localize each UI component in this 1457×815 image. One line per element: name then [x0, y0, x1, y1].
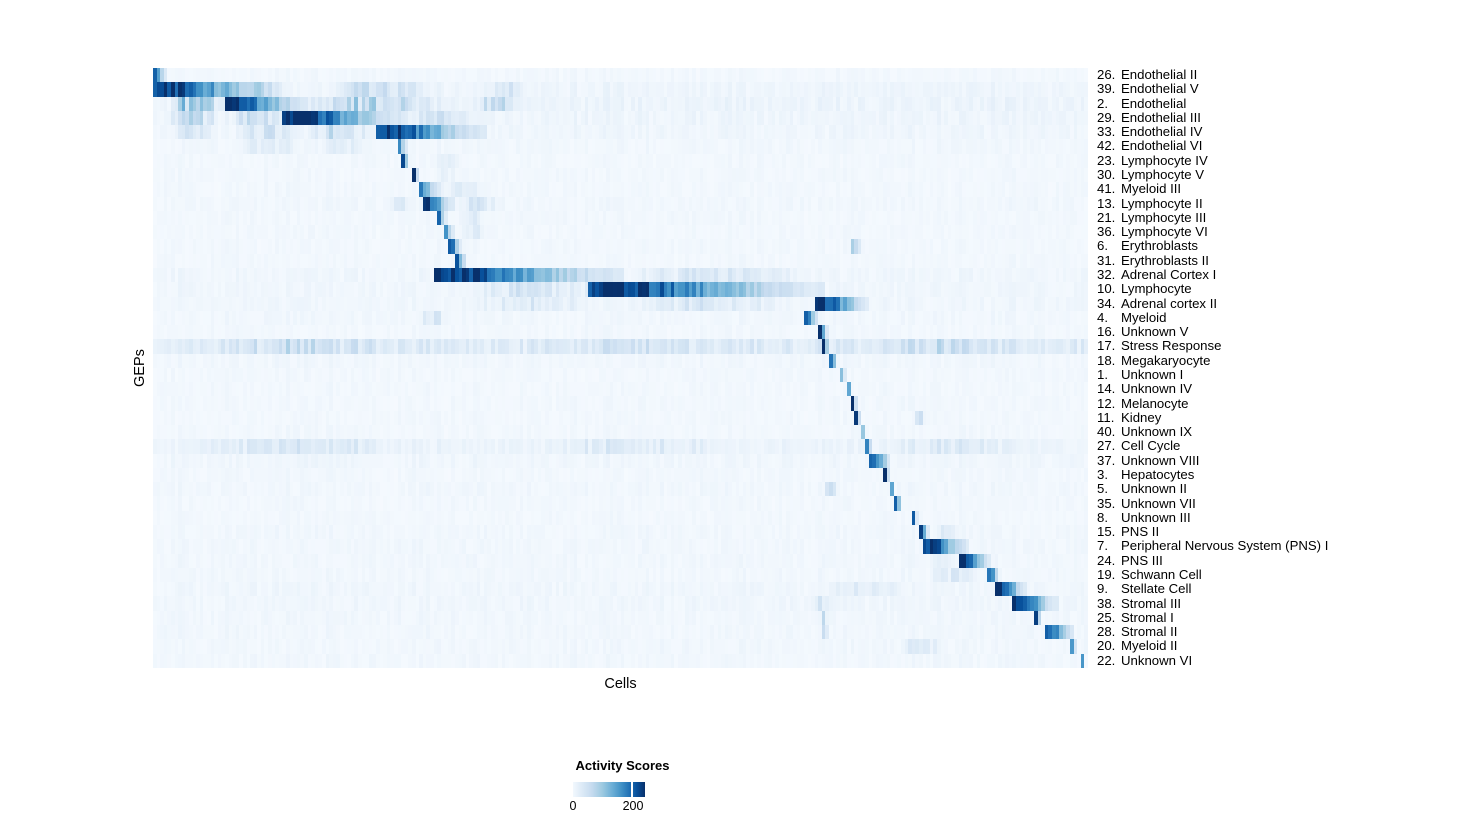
heatmap-row — [153, 596, 1088, 610]
heatmap-row — [153, 439, 1088, 453]
gep-row-name: Stromal I — [1121, 611, 1174, 625]
gep-row-number: 37. — [1097, 454, 1121, 468]
gep-row-label: 28.Stromal II — [1097, 625, 1177, 639]
gep-row-name: Stromal III — [1121, 597, 1181, 611]
gep-row-number: 10. — [1097, 282, 1121, 296]
heatmap-row — [153, 354, 1088, 368]
colorbar-tick-label-high: 200 — [623, 799, 644, 813]
heatmap-row — [153, 297, 1088, 311]
heatmap-row — [153, 368, 1088, 382]
gep-row-number: 35. — [1097, 497, 1121, 511]
gep-row-label: 14.Unknown IV — [1097, 382, 1192, 396]
gep-row-name: Endothelial III — [1121, 111, 1201, 125]
gep-row-name: Unknown VII — [1121, 497, 1196, 511]
gep-row-number: 38. — [1097, 597, 1121, 611]
gep-row-label: 39.Endothelial V — [1097, 82, 1199, 96]
gep-row-name: Lymphocyte VI — [1121, 225, 1208, 239]
gep-row-number: 25. — [1097, 611, 1121, 625]
gep-row-label: 38.Stromal III — [1097, 597, 1181, 611]
gep-row-name: Erythroblasts — [1121, 239, 1198, 253]
heatmap-row — [153, 454, 1088, 468]
gep-row-name: Hepatocytes — [1121, 468, 1194, 482]
colorbar-gradient — [571, 782, 645, 797]
gep-row-label: 35.Unknown VII — [1097, 497, 1196, 511]
gep-row-label: 8.Unknown III — [1097, 511, 1191, 525]
heatmap-row — [153, 311, 1088, 325]
gep-row-number: 40. — [1097, 425, 1121, 439]
gep-row-number: 16. — [1097, 325, 1121, 339]
gep-row-number: 32. — [1097, 268, 1121, 282]
gep-row-number: 34. — [1097, 297, 1121, 311]
gep-row-label: 25.Stromal I — [1097, 611, 1174, 625]
gep-row-label: 11.Kidney — [1097, 411, 1161, 425]
gep-row-number: 9. — [1097, 582, 1121, 596]
heatmap-row — [153, 125, 1088, 139]
gep-row-number: 24. — [1097, 554, 1121, 568]
heatmap-row — [153, 339, 1088, 353]
heatmap-row — [153, 382, 1088, 396]
gep-row-name: Endothelial — [1121, 97, 1186, 111]
heatmap-row — [153, 611, 1088, 625]
gep-row-label: 33.Endothelial IV — [1097, 125, 1202, 139]
gep-row-label: 2.Endothelial — [1097, 97, 1186, 111]
gep-row-name: Adrenal Cortex I — [1121, 268, 1216, 282]
gep-row-label: 15.PNS II — [1097, 525, 1159, 539]
gep-row-name: Stromal II — [1121, 625, 1177, 639]
gep-row-number: 1. — [1097, 368, 1121, 382]
gep-row-label: 17.Stress Response — [1097, 339, 1221, 353]
gep-row-number: 12. — [1097, 397, 1121, 411]
heatmap-row — [153, 625, 1088, 639]
gep-row-number: 30. — [1097, 168, 1121, 182]
heatmap-row — [153, 197, 1088, 211]
gep-row-label: 30.Lymphocyte V — [1097, 168, 1204, 182]
heatmap-row — [153, 482, 1088, 496]
gep-row-number: 11. — [1097, 411, 1121, 425]
heatmap-row — [153, 568, 1088, 582]
heatmap-row — [153, 496, 1088, 510]
heatmap-row — [153, 582, 1088, 596]
heatmap-row — [153, 268, 1088, 282]
heatmap-row — [153, 139, 1088, 153]
heatmap-row — [153, 525, 1088, 539]
gep-row-label: 4.Myeloid — [1097, 311, 1166, 325]
gep-row-label: 20.Myeloid II — [1097, 639, 1177, 653]
gep-row-number: 41. — [1097, 182, 1121, 196]
gep-row-name: Unknown V — [1121, 325, 1188, 339]
x-axis-label: Cells — [153, 676, 1088, 692]
gep-row-name: Lymphocyte V — [1121, 168, 1204, 182]
gep-row-name: Adrenal cortex II — [1121, 297, 1217, 311]
gep-row-label: 6.Erythroblasts — [1097, 239, 1198, 253]
heatmap-row — [153, 282, 1088, 296]
gep-row-number: 31. — [1097, 254, 1121, 268]
heatmap-row — [153, 468, 1088, 482]
gep-row-label: 32.Adrenal Cortex I — [1097, 268, 1216, 282]
heatmap-row — [153, 182, 1088, 196]
gep-row-number: 18. — [1097, 354, 1121, 368]
gep-row-name: Unknown II — [1121, 482, 1187, 496]
gep-row-label: 10.Lymphocyte — [1097, 282, 1192, 296]
heatmap-figure: GEPs Cells 26.Endothelial II39.Endotheli… — [0, 0, 1457, 815]
gep-row-number: 17. — [1097, 339, 1121, 353]
gep-row-label: 22.Unknown VI — [1097, 654, 1192, 668]
gep-row-name: Endothelial VI — [1121, 139, 1202, 153]
gep-row-number: 39. — [1097, 82, 1121, 96]
gep-row-name: Schwann Cell — [1121, 568, 1202, 582]
gep-row-number: 28. — [1097, 625, 1121, 639]
gep-row-name: Cell Cycle — [1121, 439, 1180, 453]
gep-row-number: 22. — [1097, 654, 1121, 668]
gep-row-number: 7. — [1097, 539, 1121, 553]
heatmap-plot-area — [153, 68, 1088, 668]
gep-row-number: 33. — [1097, 125, 1121, 139]
gep-row-label: 9.Stellate Cell — [1097, 582, 1191, 596]
heatmap-row — [153, 211, 1088, 225]
gep-row-name: Myeloid II — [1121, 639, 1177, 653]
gep-row-name: Endothelial IV — [1121, 125, 1202, 139]
gep-row-number: 20. — [1097, 639, 1121, 653]
gep-row-name: Lymphocyte II — [1121, 197, 1203, 211]
gep-row-name: PNS III — [1121, 554, 1163, 568]
gep-row-name: Melanocyte — [1121, 397, 1188, 411]
y-axis-label-wrap: GEPs — [0, 0, 1, 1]
colorbar-tick-high — [631, 782, 633, 797]
gep-row-label: 29.Endothelial III — [1097, 111, 1201, 125]
heatmap-row — [153, 82, 1088, 96]
gep-row-number: 29. — [1097, 111, 1121, 125]
gep-row-label: 18.Megakaryocyte — [1097, 354, 1210, 368]
heatmap-row — [153, 325, 1088, 339]
gep-row-label: 42.Endothelial VI — [1097, 139, 1202, 153]
heatmap-row — [153, 154, 1088, 168]
gep-row-name: Unknown VIII — [1121, 454, 1199, 468]
heatmap-row — [153, 539, 1088, 553]
gep-row-number: 21. — [1097, 211, 1121, 225]
gep-row-name: Megakaryocyte — [1121, 354, 1210, 368]
colorbar-title: Activity Scores — [500, 758, 745, 773]
gep-row-number: 19. — [1097, 568, 1121, 582]
gep-row-name: Erythroblasts II — [1121, 254, 1209, 268]
gep-row-label: 5.Unknown II — [1097, 482, 1187, 496]
gep-row-number: 5. — [1097, 482, 1121, 496]
gep-row-name: Lymphocyte III — [1121, 211, 1206, 225]
gep-row-name: Unknown I — [1121, 368, 1183, 382]
gep-row-label: 37.Unknown VIII — [1097, 454, 1199, 468]
gep-row-name: Stress Response — [1121, 339, 1221, 353]
heatmap-row — [153, 168, 1088, 182]
gep-row-label: 34.Adrenal cortex II — [1097, 297, 1217, 311]
gep-row-name: PNS II — [1121, 525, 1159, 539]
gep-row-number: 26. — [1097, 68, 1121, 82]
gep-row-label: 27.Cell Cycle — [1097, 439, 1180, 453]
gep-row-label: 40.Unknown IX — [1097, 425, 1192, 439]
gep-row-number: 6. — [1097, 239, 1121, 253]
heatmap-row — [153, 511, 1088, 525]
gep-row-number: 27. — [1097, 439, 1121, 453]
gep-row-label: 1.Unknown I — [1097, 368, 1183, 382]
heatmap-row — [153, 396, 1088, 410]
gep-row-label: 36.Lymphocyte VI — [1097, 225, 1208, 239]
gep-row-label-list: 26.Endothelial II39.Endothelial V2.Endot… — [1097, 68, 1437, 668]
gep-row-label: 41.Myeloid III — [1097, 182, 1181, 196]
gep-row-number: 8. — [1097, 511, 1121, 525]
gep-row-label: 21.Lymphocyte III — [1097, 211, 1206, 225]
gep-row-label: 7.Peripheral Nervous System (PNS) I — [1097, 539, 1328, 553]
heatmap-row — [153, 639, 1088, 653]
gep-row-name: Lymphocyte — [1121, 282, 1192, 296]
colorbar-tick-low — [571, 782, 573, 797]
heatmap-row — [153, 68, 1088, 82]
gep-row-label: 26.Endothelial II — [1097, 68, 1197, 82]
gep-row-label: 16.Unknown V — [1097, 325, 1188, 339]
gep-row-name: Kidney — [1121, 411, 1161, 425]
gep-row-name: Unknown III — [1121, 511, 1191, 525]
gep-row-label: 3.Hepatocytes — [1097, 468, 1194, 482]
heatmap-row — [153, 654, 1088, 668]
colorbar-tick-label-low: 0 — [570, 799, 577, 813]
gep-row-number: 36. — [1097, 225, 1121, 239]
heatmap-row — [153, 239, 1088, 253]
gep-row-name: Unknown IX — [1121, 425, 1192, 439]
gep-row-number: 4. — [1097, 311, 1121, 325]
gep-row-name: Peripheral Nervous System (PNS) I — [1121, 539, 1328, 553]
heatmap-row — [153, 225, 1088, 239]
gep-row-name: Endothelial II — [1121, 68, 1197, 82]
gep-row-number: 23. — [1097, 154, 1121, 168]
gep-row-name: Endothelial V — [1121, 82, 1199, 96]
gep-row-number: 2. — [1097, 97, 1121, 111]
gep-row-number: 42. — [1097, 139, 1121, 153]
gep-row-label: 31.Erythroblasts II — [1097, 254, 1209, 268]
gep-row-label: 23.Lymphocyte IV — [1097, 154, 1208, 168]
gep-row-name: Unknown VI — [1121, 654, 1192, 668]
gep-row-name: Lymphocyte IV — [1121, 154, 1208, 168]
gep-row-name: Myeloid — [1121, 311, 1166, 325]
gep-row-number: 3. — [1097, 468, 1121, 482]
heatmap-row — [153, 97, 1088, 111]
gep-row-number: 14. — [1097, 382, 1121, 396]
gep-row-label: 24.PNS III — [1097, 554, 1163, 568]
heatmap-row — [153, 425, 1088, 439]
gep-row-label: 12.Melanocyte — [1097, 397, 1188, 411]
heatmap-row — [153, 554, 1088, 568]
heatmap-row — [153, 254, 1088, 268]
gep-row-label: 13.Lymphocyte II — [1097, 197, 1203, 211]
y-axis-label: GEPs — [132, 349, 148, 387]
gep-row-label: 19.Schwann Cell — [1097, 568, 1202, 582]
heatmap-row — [153, 111, 1088, 125]
gep-row-name: Stellate Cell — [1121, 582, 1191, 596]
gep-row-number: 13. — [1097, 197, 1121, 211]
gep-row-name: Unknown IV — [1121, 382, 1192, 396]
gep-row-name: Myeloid III — [1121, 182, 1181, 196]
gep-row-number: 15. — [1097, 525, 1121, 539]
heatmap-row — [153, 411, 1088, 425]
